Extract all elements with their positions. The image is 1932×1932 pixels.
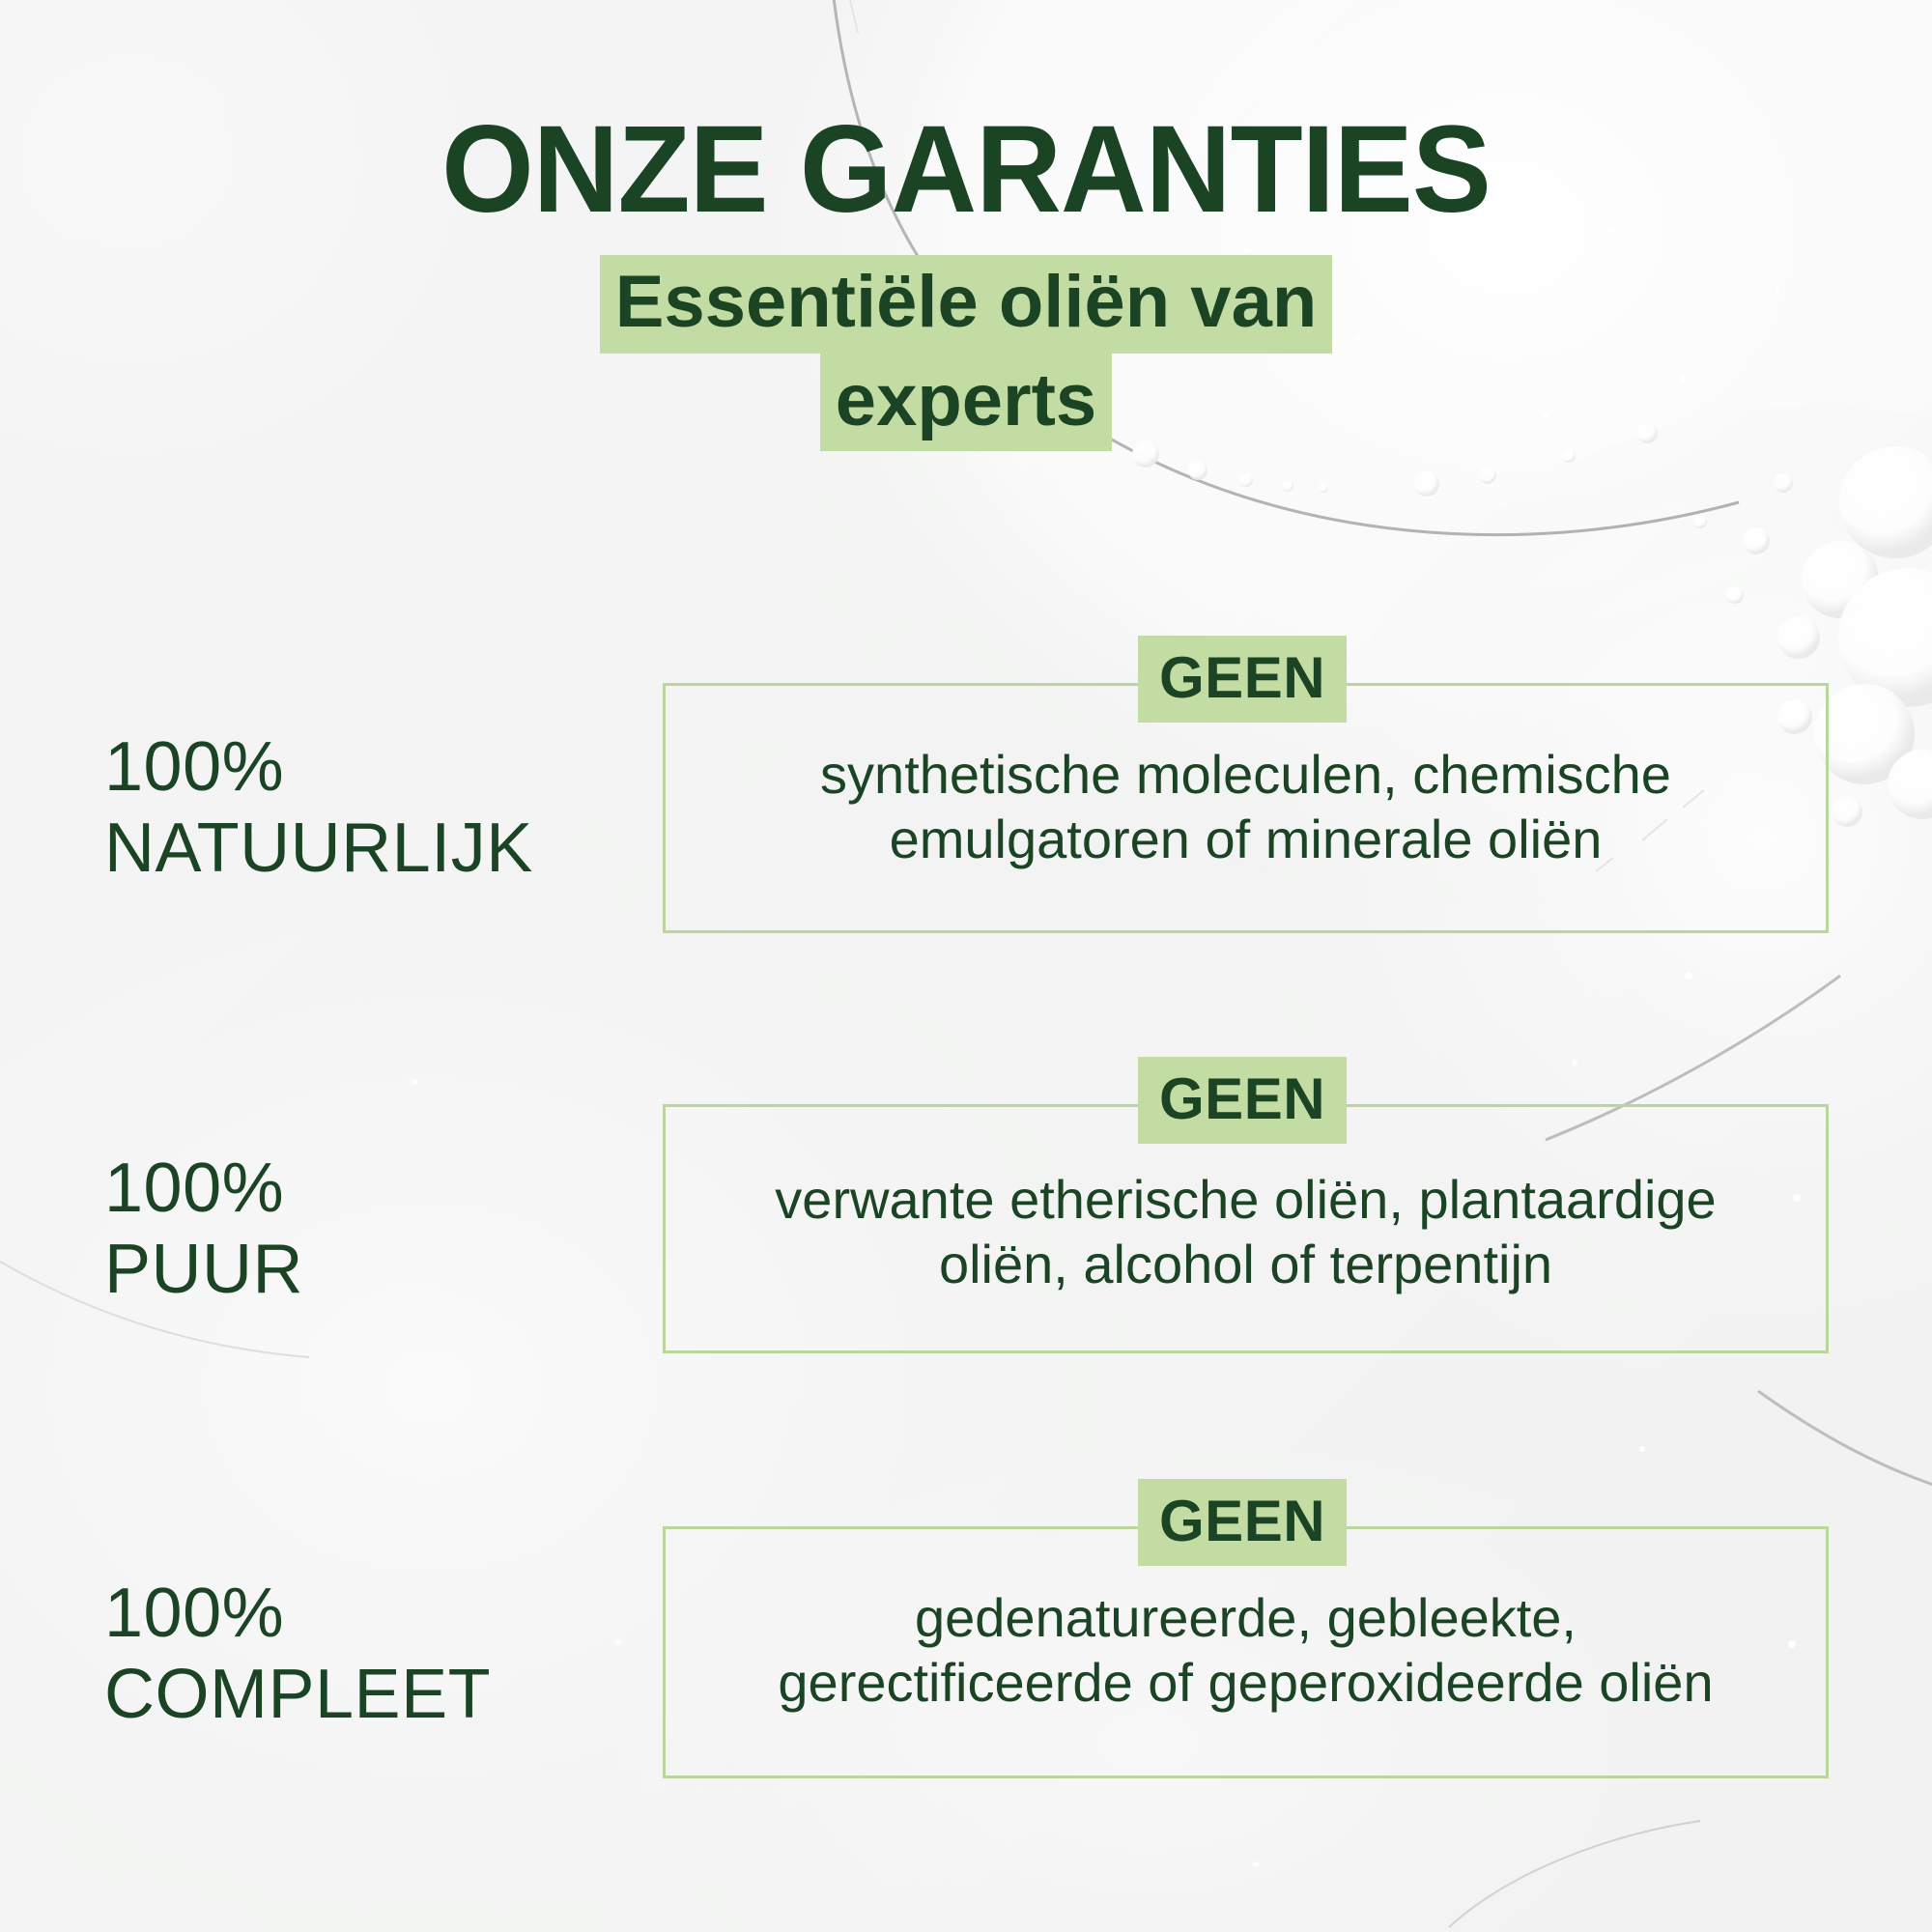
guarantee-text-line-2: emulgatoren of minerale oliën: [693, 807, 1799, 871]
guarantee-word: NATUURLIJK: [104, 808, 616, 889]
guarantee-text-line-1: verwante etherische oliën, plantaardige: [693, 1167, 1799, 1232]
guarantee-box-puur: GEEN verwante etherische oliën, plantaar…: [663, 1104, 1829, 1353]
guarantee-label-compleet: 100% COMPLEET: [104, 1573, 616, 1735]
guarantee-percent: 100%: [104, 726, 616, 808]
guarantee-text-line-1: synthetische moleculen, chemische: [693, 742, 1799, 807]
guarantee-word: PUUR: [104, 1229, 616, 1310]
guarantee-label-natuurlijk: 100% NATUURLIJK: [104, 726, 616, 889]
subtitle-line-2-text: experts: [820, 354, 1112, 452]
guarantee-box-compleet: GEEN gedenatureerde, gebleekte, gerectif…: [663, 1526, 1829, 1778]
guarantee-text-line-2: gerectificeerde of geperoxideerde oliën: [693, 1650, 1799, 1715]
guarantee-label-puur: 100% PUUR: [104, 1148, 616, 1310]
guarantee-percent: 100%: [104, 1148, 616, 1229]
subtitle-line-1: Essentiële oliën van: [0, 255, 1932, 354]
subtitle-line-1-text: Essentiële oliën van: [600, 255, 1333, 354]
guarantee-word: COMPLEET: [104, 1654, 616, 1735]
page-subtitle: Essentiële oliën van experts: [0, 255, 1932, 451]
guarantee-percent: 100%: [104, 1573, 616, 1654]
page-header: ONZE GARANTIES Essentiële oliën van expe…: [0, 0, 1932, 451]
guarantee-text-line-1: gedenatureerde, gebleekte,: [693, 1585, 1799, 1650]
geen-badge: GEEN: [1138, 1057, 1347, 1144]
geen-badge: GEEN: [1138, 1479, 1347, 1566]
subtitle-line-2: experts: [0, 354, 1932, 452]
geen-badge: GEEN: [1138, 636, 1347, 723]
guarantee-text-natuurlijk: synthetische moleculen, chemische emulga…: [666, 742, 1826, 871]
guarantee-text-line-2: oliën, alcohol of terpentijn: [693, 1232, 1799, 1296]
guarantee-box-natuurlijk: GEEN synthetische moleculen, chemische e…: [663, 683, 1829, 933]
guarantee-text-compleet: gedenatureerde, gebleekte, gerectificeer…: [666, 1585, 1826, 1715]
guarantee-text-puur: verwante etherische oliën, plantaardige …: [666, 1167, 1826, 1296]
page-title: ONZE GARANTIES: [39, 108, 1893, 232]
